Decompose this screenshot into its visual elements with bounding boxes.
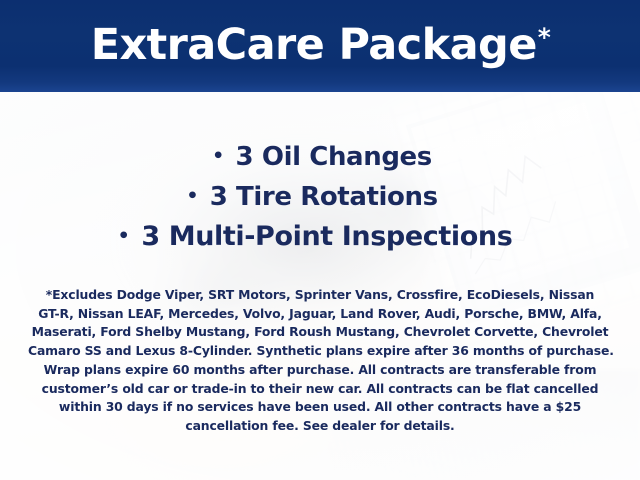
header-band: ExtraCare Package* [0,0,640,92]
disclaimer-text: *Excludes Dodge Viper, SRT Motors, Sprin… [28,286,612,436]
benefit-item-multi-point-inspections: • 3 Multi-Point Inspections [0,218,635,258]
bullet-dot-icon: • [186,185,198,207]
disclaimer-line: GT-R, Nissan LEAF, Mercedes, Volvo, Jagu… [28,305,612,324]
disclaimer-line: *Excludes Dodge Viper, SRT Motors, Sprin… [28,286,612,305]
bullet-dot-icon: • [212,145,224,167]
page-title-asterisk: * [538,23,550,52]
disclaimer-line: Camaro SS and Lexus 8-Cylinder. Syntheti… [28,342,612,361]
benefit-label: 3 Oil Changes [236,142,432,172]
benefit-item-oil-changes: • 3 Oil Changes [2,138,640,178]
disclaimer-line: Wrap plans expire 60 months after purcha… [28,361,612,380]
page-title: ExtraCare Package* [91,24,550,67]
benefits-list: • 3 Oil Changes • 3 Tire Rotations • 3 M… [0,138,640,258]
disclaimer-line: cancellation fee. See dealer for details… [28,417,612,436]
bullet-dot-icon: • [118,225,130,247]
disclaimer-line: customer’s old car or trade-in to their … [28,380,612,399]
benefit-item-tire-rotations: • 3 Tire Rotations [0,178,632,218]
page-title-text: ExtraCare Package [91,20,537,70]
disclaimer-line: Maserati, Ford Shelby Mustang, Ford Rous… [28,323,612,342]
benefit-label: 3 Multi-Point Inspections [141,221,512,252]
benefit-label: 3 Tire Rotations [210,182,438,212]
extracare-package-banner: ExtraCare Package* • 3 Oil Changes • 3 T… [0,0,640,480]
disclaimer-line: within 30 days if no services have been … [28,398,612,417]
